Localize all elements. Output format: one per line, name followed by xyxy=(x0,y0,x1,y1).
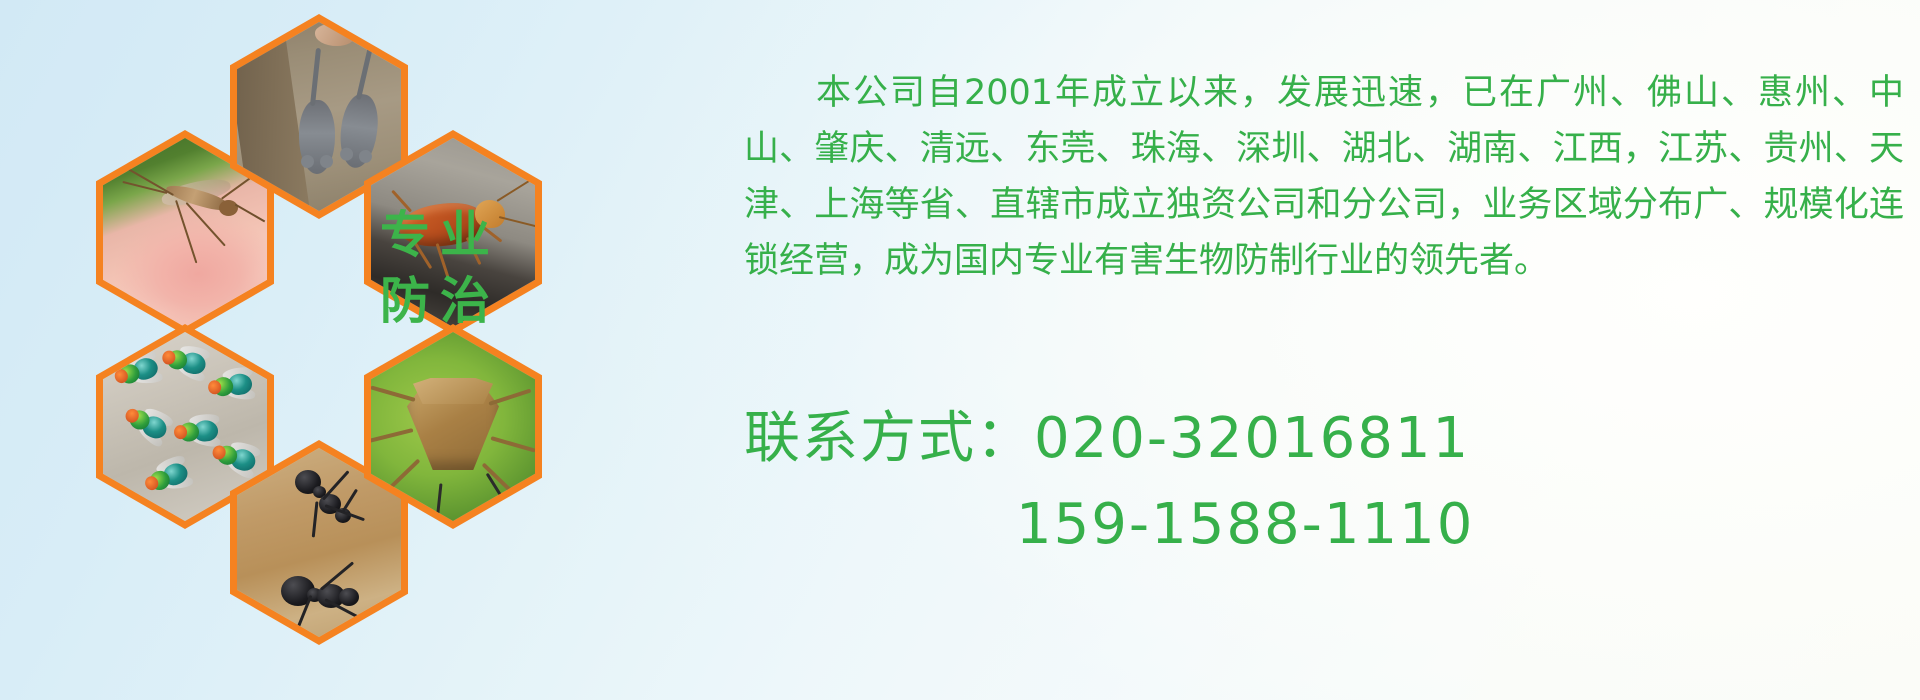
stink-bug-leg-icon xyxy=(371,428,413,444)
slogan-line-1: 专业 xyxy=(354,202,526,268)
hex-inner-stink-bug xyxy=(371,332,535,521)
honeycomb-logo-cluster: 专业 防治 xyxy=(96,2,596,562)
rat-tail-icon xyxy=(356,42,374,100)
slogan-line-2: 防治 xyxy=(354,268,526,334)
hand-icon xyxy=(357,22,401,55)
ant-head-icon xyxy=(339,588,359,606)
mosquito-proboscis-icon xyxy=(235,204,265,223)
stink-bug-leg-icon xyxy=(371,385,416,402)
fly-icon xyxy=(212,439,258,475)
stink-bug-leg-icon xyxy=(383,459,420,495)
fly-icon xyxy=(163,344,208,378)
fly-icon xyxy=(144,457,191,496)
rat-ear-icon xyxy=(301,155,314,168)
stink-bug-leg-icon xyxy=(488,389,531,406)
ant-antenna-icon xyxy=(342,489,358,513)
fly-icon xyxy=(114,352,160,389)
hand-icon xyxy=(315,24,355,46)
rat-icon xyxy=(337,92,382,170)
contact-primary-line[interactable]: 联系方式：020-32016811 xyxy=(744,396,1904,482)
pest-control-banner: 专业 防治 本公司自2001年成立以来，发展迅速，已在广州、佛山、惠州、中山、肇… xyxy=(0,0,1920,700)
fly-icon xyxy=(176,417,218,446)
fly-icon xyxy=(209,369,252,400)
rat-tail-icon xyxy=(310,48,321,106)
fly-icon xyxy=(123,403,170,444)
stink-bug-leg-icon xyxy=(490,436,535,453)
rat-icon xyxy=(299,100,335,174)
rat-ear-icon xyxy=(339,147,353,161)
company-description-paragraph: 本公司自2001年成立以来，发展迅速，已在广州、佛山、惠州、中山、肇庆、清远、东… xyxy=(744,65,1904,289)
contact-secondary-phone[interactable]: 159-1588-1110 xyxy=(744,482,1904,568)
stink-bug-photo xyxy=(371,332,535,521)
rat-ear-icon xyxy=(320,155,333,168)
stink-bug-pronotum-icon xyxy=(413,378,493,404)
rat-ear-icon xyxy=(358,149,372,163)
cockroach-antenna-icon xyxy=(496,172,535,202)
ant-leg-icon xyxy=(312,501,319,537)
stink-bug-antenna-icon xyxy=(435,483,443,521)
brand-slogan: 专业 防治 xyxy=(354,202,526,334)
contact-block: 联系方式：020-32016811 159-1588-1110 xyxy=(744,396,1904,568)
